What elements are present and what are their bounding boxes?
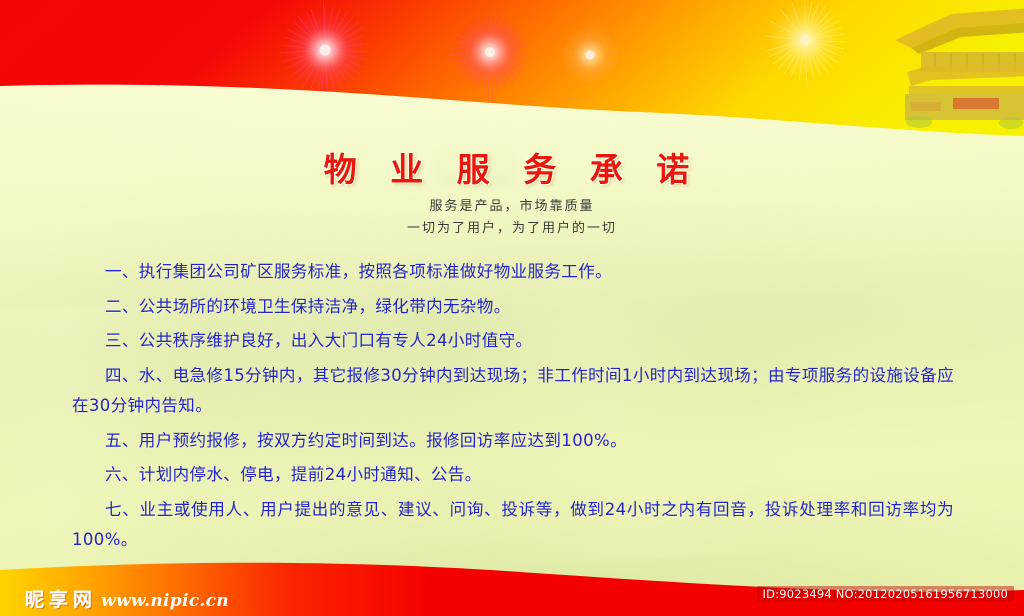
list-item: 四、水、电急修15分钟内，其它报修30分钟内到达现场；非工作时间1小时内到达现场… (72, 361, 954, 422)
subtitle-line-2: 一切为了用户，为了用户的一切 (0, 218, 1024, 239)
header-graphic (0, 0, 1024, 136)
logo-char-2: 享 (48, 590, 69, 610)
poster-canvas: 物 业 服 务 承 诺 服务是产品，市场靠质量 一切为了用户，为了用户的一切 一… (0, 0, 1024, 616)
page-title: 物 业 服 务 承 诺 (0, 152, 1024, 188)
list-item: 五、用户预约报修，按双方约定时间到达。报修回访率应达到100%。 (72, 426, 954, 457)
list-item: 一、执行集团公司矿区服务标准，按照各项标准做好物业服务工作。 (72, 257, 954, 288)
logo-char-1: 昵 (24, 590, 45, 610)
list-item: 三、公共秩序维护良好，出入大门口有专人24小时值守。 (72, 326, 954, 357)
image-id-label: ID:9023494 NO:20120205161956713000 (757, 586, 1014, 602)
logo-url[interactable]: www.nipic.cn (101, 591, 229, 611)
poster-content: 物 业 服 务 承 诺 服务是产品，市场靠质量 一切为了用户，为了用户的一切 一… (0, 136, 1024, 560)
footer-watermark-bar: 昵 享 网 www.nipic.cn ID:9023494 NO:2012020… (0, 556, 1024, 616)
subtitle-block: 服务是产品，市场靠质量 一切为了用户，为了用户的一切 (0, 196, 1024, 239)
nipic-logo[interactable]: 昵 享 网 www.nipic.cn (24, 590, 229, 611)
subtitle-line-1: 服务是产品，市场靠质量 (0, 196, 1024, 217)
list-item: 六、计划内停水、停电，提前24小时通知、公告。 (72, 460, 954, 491)
commitment-list: 一、执行集团公司矿区服务标准，按照各项标准做好物业服务工作。 二、公共场所的环境… (72, 257, 954, 556)
logo-char-3: 网 (72, 590, 93, 610)
list-item: 二、公共场所的环境卫生保持洁净，绿化带内无杂物。 (72, 292, 954, 323)
list-item: 七、业主或使用人、用户提出的意见、建议、问询、投诉等，做到24小时之内有回音，投… (72, 495, 954, 556)
logo-characters: 昵 享 网 (24, 590, 93, 610)
header-banner (0, 0, 1024, 136)
